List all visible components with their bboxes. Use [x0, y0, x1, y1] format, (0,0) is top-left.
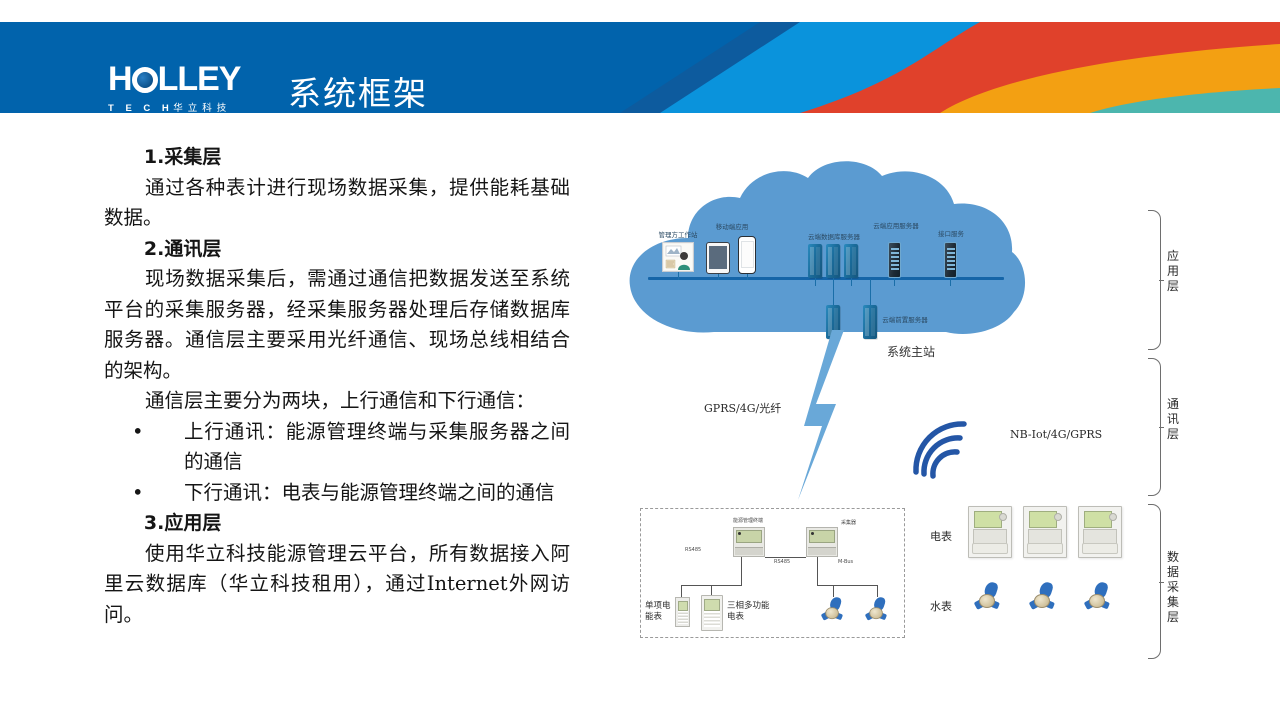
cloud-node-label-mobile: 移动端应用 — [704, 223, 760, 231]
bullet-dot-icon: • — [132, 478, 144, 509]
db-server-stem — [851, 278, 852, 286]
bullet-item-downlink: • 下行通讯：电表与能源管理终端之间的通信 — [104, 478, 570, 509]
comm-label-left: GPRS/4G/光纤 — [704, 400, 781, 416]
logo-subtitle: T E C H华立科技 — [108, 100, 268, 113]
layer-label-communication: 通讯层 — [1166, 397, 1180, 442]
mobile-phone-icon — [738, 236, 756, 274]
layer-label-data-collection: 数据采集层 — [1166, 550, 1180, 625]
bullet-item-uplink: • 上行通讯：能源管理终端与采集服务器之间的通信 — [104, 417, 570, 478]
wire-water1-drop — [833, 585, 834, 597]
electric-meter-group-label: 电表 — [930, 528, 952, 544]
system-master-station-label: 系统主站 — [887, 343, 935, 360]
cloud-db-server-icon — [844, 244, 858, 278]
bus-label-rs485-left: RS485 — [685, 547, 701, 553]
section-paragraph-2: 现场数据采集后，需通过通信把数据发送至系统平台的采集服务器，经采集服务器处理后存… — [104, 264, 570, 386]
cloud-app-server-icon — [888, 242, 901, 278]
cloud-node-label-app: 云端应用服务器 — [868, 222, 924, 230]
field-layer-box: 能源管理终端 采集器 RS485 RS485 M-Bus 单项电能表 — [640, 508, 905, 638]
electric-meter-icon — [1078, 506, 1122, 558]
cloud-node-label-workstation: 管理方工作站 — [648, 231, 708, 239]
holley-logo: HLLEY T E C H华立科技 — [108, 62, 268, 113]
brace-communication-layer — [1148, 358, 1161, 496]
section-paragraph-3: 通信层主要分为两块，上行通信和下行通信： — [104, 386, 570, 417]
cloud-front-server-icon — [863, 305, 877, 339]
tablet-icon — [706, 242, 730, 274]
body-text-block: 1.采集层 通过各种表计进行现场数据采集，提供能耗基础数据。 2.通讯层 现场数… — [104, 142, 570, 630]
wire-bus-horizontal-right — [817, 585, 877, 586]
water-meter-icon — [974, 582, 1000, 612]
interface-service-icon — [944, 242, 957, 278]
logo-wordmark: HLLEY — [108, 62, 268, 96]
cloud-node-label-front: 云端前置服务器 — [878, 316, 932, 324]
layer-label-application: 应用层 — [1166, 249, 1180, 294]
cloud-db-server-icon — [808, 244, 822, 278]
section-paragraph-1: 通过各种表计进行现场数据采集，提供能耗基础数据。 — [104, 173, 570, 234]
electric-meter-icon — [1023, 506, 1067, 558]
wire-water2-drop — [877, 585, 878, 597]
electric-meter-icon — [968, 506, 1012, 558]
workstation-stem — [678, 272, 679, 280]
energy-management-terminal-icon — [733, 527, 765, 557]
wifi-signal-icon — [910, 418, 980, 478]
interface-service-stem — [950, 278, 951, 286]
terminal-label: 能源管理终端 — [733, 517, 763, 524]
logo-letter-h: H — [108, 60, 132, 98]
bus-label-mbus: M-Bus — [838, 559, 853, 565]
bullet-dot-icon: • — [132, 417, 144, 448]
single-phase-meter-label: 单项电能表 — [645, 601, 675, 623]
page-title: 系统框架 — [288, 67, 428, 113]
slide-canvas: HLLEY T E C H华立科技 系统框架 1.采集层 通过各种表计进行现场数… — [0, 0, 1280, 720]
front-server-stem — [833, 279, 834, 307]
three-phase-meter-icon — [701, 595, 723, 631]
bullet-text-uplink: 上行通讯：能源管理终端与采集服务器之间的通信 — [132, 417, 570, 478]
wire-terminal-drop — [741, 557, 742, 585]
comm-label-right: NB-Iot/4G/GPRS — [1010, 428, 1102, 441]
slide-header: HLLEY T E C H华立科技 系统框架 — [0, 22, 1280, 113]
water-meter-icon — [865, 597, 887, 623]
cloud-db-server-icon — [826, 244, 840, 278]
water-meter-icon — [821, 597, 843, 623]
brace-data-collection-layer — [1148, 504, 1161, 659]
phone-stem — [747, 274, 748, 280]
water-meter-group-label: 水表 — [930, 598, 952, 614]
data-collector-icon — [806, 527, 838, 557]
db-server-stem — [815, 278, 816, 286]
logo-subtitle-en: T E C H — [108, 103, 173, 113]
logo-o-ring — [132, 67, 158, 93]
section-heading-1: 1.采集层 — [104, 142, 570, 173]
three-phase-meter-label: 三相多功能电表 — [727, 601, 771, 623]
water-meter-icon — [1084, 582, 1110, 612]
section-heading-2: 2.通讯层 — [104, 234, 570, 265]
logo-subtitle-cn: 华立科技 — [173, 103, 231, 113]
cloud-node-label-db: 云端数据库服务器 — [792, 233, 876, 241]
front-server-stem — [870, 279, 871, 307]
wire-terminal-to-collector — [765, 557, 806, 558]
tablet-stem — [718, 274, 719, 280]
single-phase-meter-icon — [675, 597, 690, 627]
app-server-stem — [894, 278, 895, 286]
bus-label-rs485-mid: RS485 — [774, 559, 790, 565]
water-meter-icon — [1029, 582, 1055, 612]
collector-label: 采集器 — [841, 519, 856, 526]
management-workstation-icon — [662, 242, 694, 272]
lightning-bolt-icon — [792, 330, 852, 500]
cloud-node-label-interface: 接口服务 — [928, 230, 974, 238]
brace-application-layer — [1148, 210, 1161, 350]
section-heading-3: 3.应用层 — [104, 508, 570, 539]
architecture-diagram: 管理方工作站 移动端应用 云端数据库服务器 云端应用服务器 — [600, 130, 1280, 690]
logo-letters-lley: LLEY — [158, 60, 241, 98]
wire-collector-drop — [817, 557, 818, 585]
section-paragraph-4: 使用华立科技能源管理云平台，所有数据接入阿里云数据库（华立科技租用），通过Int… — [104, 539, 570, 631]
bullet-text-downlink: 下行通讯：电表与能源管理终端之间的通信 — [132, 478, 555, 509]
